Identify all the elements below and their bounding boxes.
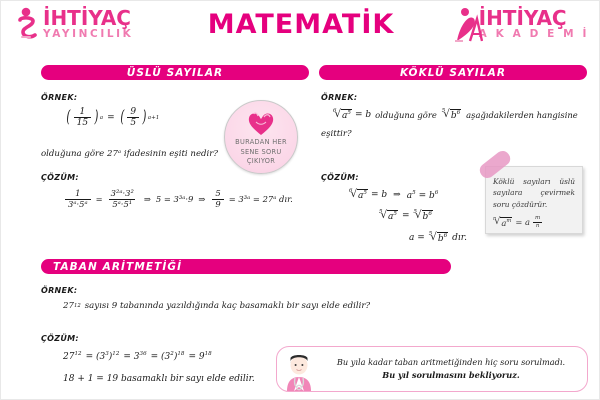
- academy-logo-icon: [453, 7, 475, 41]
- base-27: 27: [63, 301, 74, 311]
- solution-step-2: = 3³ᵃ = 27ᵃ dır.: [229, 194, 293, 204]
- fraction-1-15: 1 15: [74, 107, 91, 129]
- page-header: İHTİYAÇ YAYINCILIK MATEMATİK İHTİYAÇ A K…: [1, 1, 600, 55]
- term-9-18: = 918: [188, 351, 211, 362]
- dir-suffix: dır.: [452, 233, 467, 243]
- koklu-text-2: aşağıdakilerden hangisine: [466, 110, 578, 120]
- example-formula-uslu: ( 1 15 ) a = ( 9 5 ) a+1: [65, 107, 159, 129]
- solution-fraction-1: 1 3ᵃ·5ᵃ: [65, 189, 91, 209]
- tip-note-formula: n √ am = a m n: [493, 215, 575, 229]
- solution-line-2-koklu: 5 √ a5 = 5 √ b6: [379, 210, 433, 223]
- example-label-taban: ÖRNEK:: [41, 286, 77, 295]
- worksheet-page: İHTİYAÇ YAYINCILIK MATEMATİK İHTİYAÇ A K…: [0, 0, 600, 400]
- example-label-uslu: ÖRNEK:: [41, 93, 77, 102]
- solution-step-1: 5 = 3³ᵃ·9: [156, 194, 194, 204]
- koklu-text-1: olduğuna göre: [375, 110, 437, 120]
- implies-arrow-3: ⇒: [393, 190, 401, 200]
- tip-note-text: Köklü sayıları üslü sayılara çevirmek so…: [493, 176, 575, 210]
- exponent-a-plus-1: a+1: [148, 115, 160, 121]
- section-title-koklu-sayilar: KÖKLÜ SAYILAR: [319, 65, 587, 80]
- stamp-line-3: ÇIKIYOR: [235, 157, 287, 167]
- example-label-koklu: ÖRNEK:: [321, 93, 357, 102]
- paren-close-2: ): [142, 113, 146, 122]
- example-formula-koklu: 6 √ a5 = b olduğuna göre 5 √ b6 aşağıdak…: [333, 109, 578, 122]
- equals-sign-4: =: [402, 211, 410, 221]
- stamp-badge: BURADAN HER SENE SORU ÇIKIYOR: [224, 100, 298, 174]
- question-text-taban: sayısı 9 tabanında yazıldığında kaç basa…: [85, 301, 370, 311]
- solution-label-taban: ÇÖZÜM:: [41, 334, 79, 343]
- equals-a: = a: [515, 217, 530, 227]
- b6-term: = b6: [419, 190, 439, 201]
- exponent-a: a: [100, 115, 103, 121]
- term-3-2-18: = (32)18: [151, 351, 185, 362]
- example-question-taban: 27 12 sayısı 9 tabanında yazıldığında ka…: [63, 301, 370, 311]
- solution-line-1-taban: 2712 = (33)12 = 336 = (32)18 = 918: [63, 351, 212, 362]
- implies-arrow-1: ⇒: [144, 194, 151, 204]
- radical-n-am: n √ am: [493, 217, 512, 228]
- paren-close-1: ): [94, 113, 98, 122]
- exponent-12: 12: [74, 303, 81, 309]
- radical-a5: 6 √ a5: [333, 109, 352, 122]
- solution-label-koklu: ÇÖZÜM:: [321, 173, 359, 182]
- solution-line-1-koklu: 6 √ a5 = b ⇒ a5 = b6: [349, 189, 438, 202]
- solution-line-3-koklu: a = 5 √ b6 dır.: [409, 232, 467, 245]
- a5-term: a5: [407, 190, 416, 201]
- stamp-line-2: SENE SORU: [235, 148, 287, 158]
- heart-icon: [246, 110, 276, 136]
- paren-open-1: (: [66, 113, 70, 122]
- doctor-avatar: [277, 347, 321, 391]
- callout-line-2: Bu yıl sorulmasını bekliyoruz.: [323, 369, 579, 382]
- equals-b: = b: [355, 110, 371, 120]
- paren-open-2: (: [120, 113, 124, 122]
- radical-b6-final: 5 √ b6: [429, 232, 448, 245]
- implies-arrow-2: ⇒: [198, 194, 205, 204]
- solution-formula-uslu: 1 3ᵃ·5ᵃ = 3²ᵃ·3² 5ᵃ·5¹ ⇒ 5 = 3³ᵃ·9 ⇒ 5 9…: [63, 189, 293, 209]
- academy-subtitle: A K A D E M İ: [479, 29, 589, 40]
- section-title-uslu-sayilar: ÜSLÜ SAYILAR: [41, 65, 309, 80]
- equals-b-2: = b: [371, 190, 387, 200]
- academy-logo-text: İHTİYAÇ A K A D E M İ: [479, 8, 589, 40]
- section-title-taban-aritmetigi: TABAN ARİTMETİĞİ: [41, 259, 451, 274]
- solution-fraction-3: 5 9: [212, 189, 223, 209]
- term-27-12: 2712: [63, 351, 82, 362]
- solution-fraction-2: 3²ᵃ·3² 5ᵃ·5¹: [108, 189, 137, 209]
- info-callout-body: Bu yıla kadar taban aritmetiğinden hiç s…: [321, 356, 587, 382]
- term-3-3-12: = (33)12: [86, 351, 120, 362]
- fraction-9-5: 9 5: [127, 107, 139, 129]
- radical-a5-solution: 6 √ a5: [349, 189, 368, 202]
- radical-a5-fifth: 5 √ a5: [379, 210, 398, 223]
- academy-name: İHTİYAÇ: [479, 8, 589, 28]
- stamp-text: BURADAN HER SENE SORU ÇIKIYOR: [235, 138, 287, 167]
- solution-label-uslu: ÇÖZÜM:: [41, 173, 79, 182]
- academy-logo: İHTİYAÇ A K A D E M İ: [453, 7, 589, 41]
- solution-line-2-taban: 18 + 1 = 19 basamaklı bir sayı elde edil…: [63, 373, 255, 387]
- radical-b6-fifth: 5 √ b6: [414, 210, 433, 223]
- exponent-fraction-m-n: m n: [532, 215, 543, 229]
- equals-sign-1: =: [107, 113, 115, 123]
- info-callout: Bu yıla kadar taban aritmetiğinden hiç s…: [276, 346, 588, 392]
- term-3-36: = 336: [123, 351, 146, 362]
- equals-sign-3: =: [96, 194, 103, 204]
- stamp-line-1: BURADAN HER: [235, 138, 287, 148]
- radical-b6: 5 √ b6: [442, 109, 461, 122]
- example-question-koklu-line2: eşittir?: [321, 128, 352, 141]
- callout-line-1: Bu yıla kadar taban aritmetiğinden hiç s…: [323, 356, 579, 369]
- a-equals: a =: [409, 233, 425, 243]
- tip-note: Köklü sayıları üslü sayılara çevirmek so…: [485, 166, 583, 234]
